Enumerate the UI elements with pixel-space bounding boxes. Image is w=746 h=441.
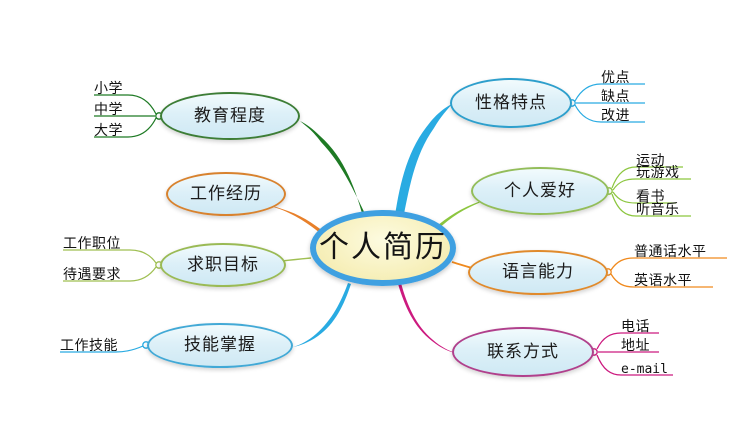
- main-node-personality[interactable]: 性格特点: [450, 78, 572, 128]
- main-node-skills[interactable]: 技能掌握: [147, 323, 293, 368]
- main-node-job-objective[interactable]: 求职目标: [160, 243, 286, 287]
- leaf-hobbies-3[interactable]: 听音乐: [636, 203, 680, 217]
- leaf-contact-1[interactable]: 地址: [621, 339, 650, 353]
- leaf-contact-2[interactable]: e-mail: [621, 363, 668, 376]
- leaf-language-0[interactable]: 普通话水平: [634, 245, 707, 259]
- mindmap-canvas: 个人简历 教育程度 工作经历 求职目标 技能掌握 性格特点 个人爱好 语言能力 …: [0, 0, 746, 441]
- leaf-personality-0[interactable]: 优点: [601, 71, 630, 85]
- main-node-language[interactable]: 语言能力: [468, 250, 608, 295]
- leaf-contact-0[interactable]: 电话: [621, 320, 650, 334]
- branch-skills: [293, 283, 351, 347]
- leaf-education-1[interactable]: 中学: [94, 103, 123, 117]
- main-node-work-experience[interactable]: 工作经历: [166, 172, 286, 216]
- leaf-language-1[interactable]: 英语水平: [634, 274, 692, 288]
- branch-personality: [394, 104, 452, 224]
- main-node-hobbies[interactable]: 个人爱好: [471, 167, 609, 215]
- branch-education: [300, 121, 371, 226]
- leaf-education-0[interactable]: 小学: [94, 82, 123, 96]
- leaf-personality-1[interactable]: 缺点: [601, 90, 630, 104]
- main-node-education[interactable]: 教育程度: [160, 92, 300, 140]
- main-node-contact[interactable]: 联系方式: [452, 327, 594, 377]
- leaf-personality-2[interactable]: 改进: [601, 109, 630, 123]
- leaf-hobbies-1[interactable]: 玩游戏: [636, 166, 680, 180]
- leaf-education-2[interactable]: 大学: [94, 124, 123, 138]
- branch-contact: [398, 283, 456, 353]
- leaf-job-objective-1[interactable]: 待遇要求: [63, 268, 121, 282]
- leaf-skills-0[interactable]: 工作技能: [60, 339, 118, 353]
- central-node[interactable]: 个人简历: [310, 210, 456, 286]
- leaf-job-objective-0[interactable]: 工作职位: [63, 237, 121, 251]
